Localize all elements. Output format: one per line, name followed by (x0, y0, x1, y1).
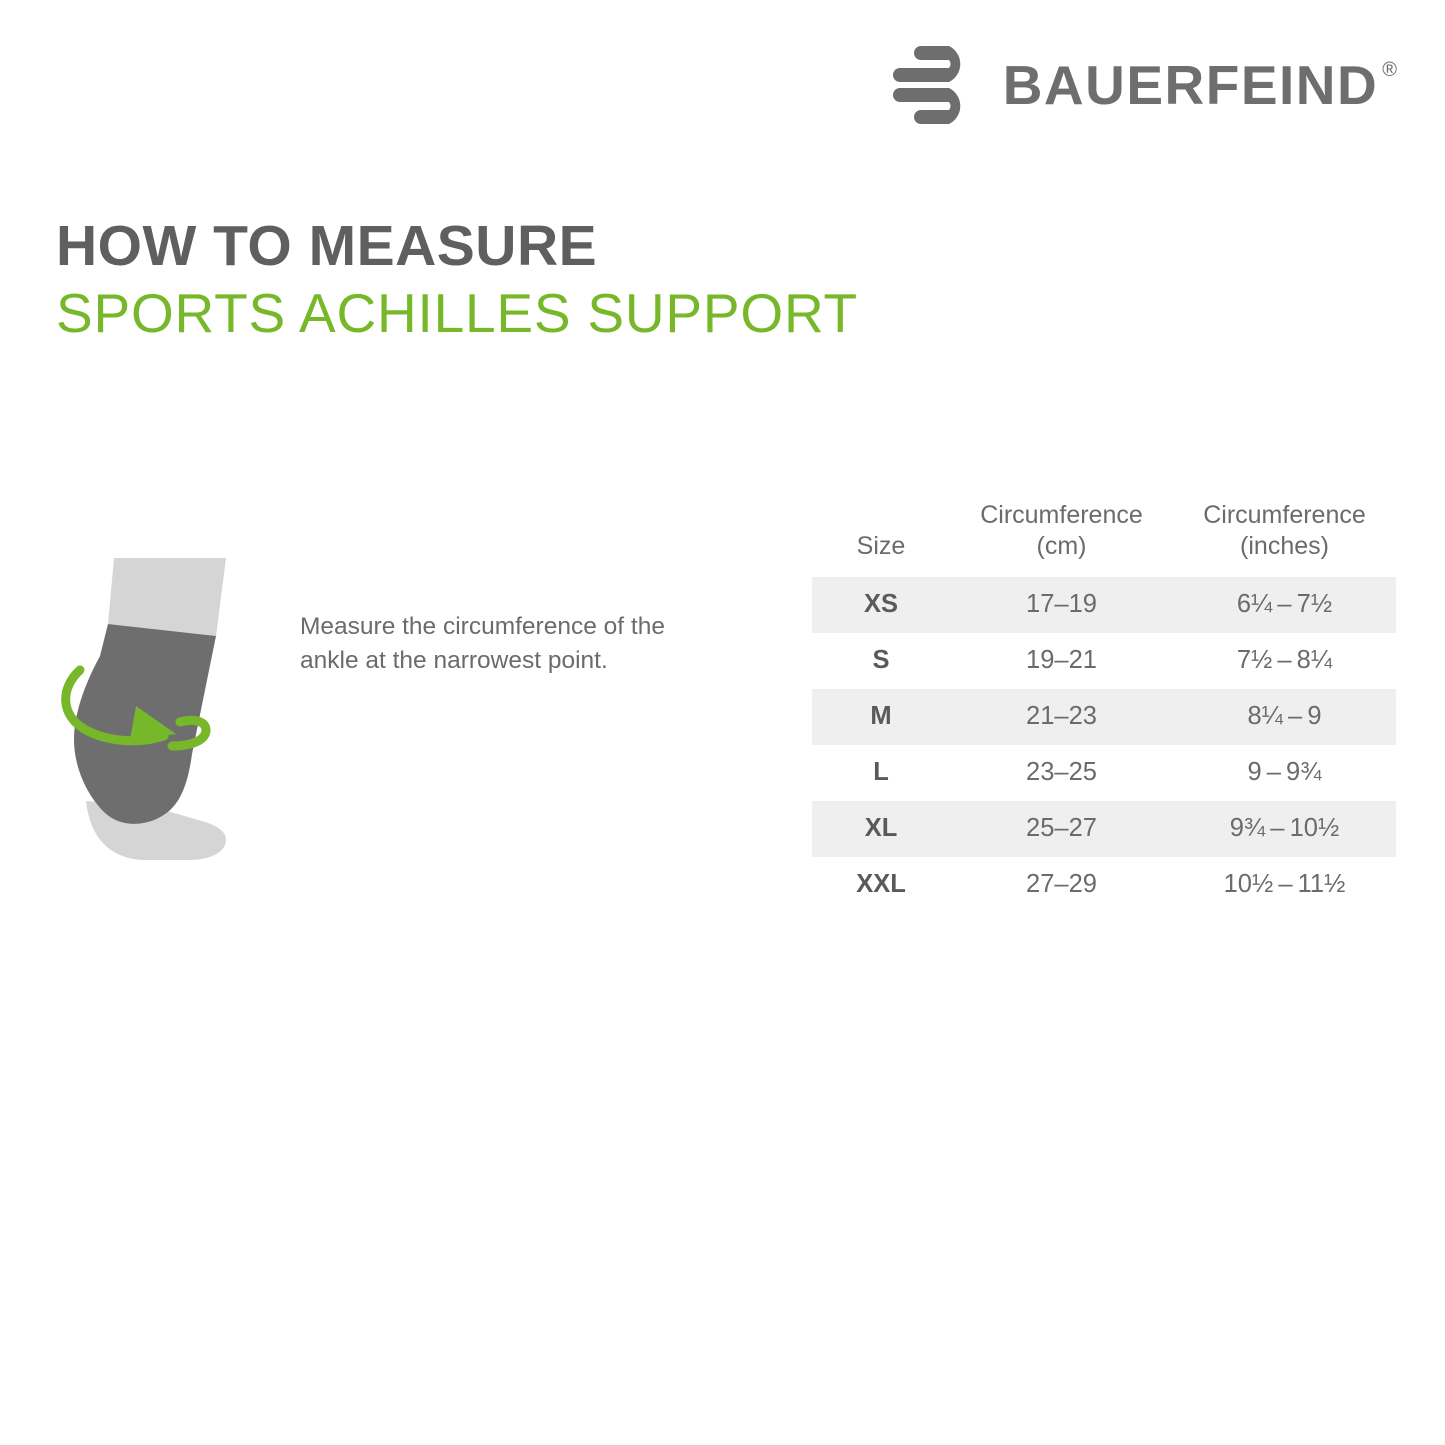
table-row: S19–217½ – 8¼ (812, 633, 1396, 689)
column-header-circumference-cm: Circumference (cm) (950, 500, 1173, 577)
page-title: HOW TO MEASURE (56, 216, 858, 278)
cell-size: XXL (812, 857, 950, 913)
brand-name: BAUERFEIND (1003, 58, 1379, 113)
table-row: XXL27–2910½ – 11½ (812, 857, 1396, 913)
brand-logo: BAUERFEIND ® (891, 42, 1397, 128)
registered-trademark-icon: ® (1382, 60, 1397, 80)
cell-size: M (812, 689, 950, 745)
size-chart-table: Size Circumference (cm) Circumference (i… (812, 500, 1396, 913)
cell-size: S (812, 633, 950, 689)
column-header-size: Size (812, 500, 950, 577)
cell-circumference-cm: 17–19 (950, 577, 1173, 633)
cell-size: XS (812, 577, 950, 633)
table-row: XS17–196¼ – 7½ (812, 577, 1396, 633)
measurement-instruction: Measure the circumference of the ankle a… (300, 610, 730, 680)
ankle-measurement-illustration (30, 558, 260, 888)
cell-circumference-inches: 6¼ – 7½ (1173, 577, 1396, 633)
cell-size: L (812, 745, 950, 801)
cell-circumference-inches: 8¼ – 9 (1173, 689, 1396, 745)
size-chart-header: Size Circumference (cm) Circumference (i… (812, 500, 1396, 577)
cell-circumference-cm: 23–25 (950, 745, 1173, 801)
column-header-inch-line1: Circumference (1203, 501, 1366, 529)
cell-circumference-cm: 19–21 (950, 633, 1173, 689)
column-header-cm-line2: (cm) (1037, 532, 1087, 560)
ankle-diagram-icon (30, 558, 260, 888)
bauerfeind-b-mark-icon (891, 42, 985, 128)
table-header-row: Size Circumference (cm) Circumference (i… (812, 500, 1396, 577)
cell-circumference-inches: 7½ – 8¼ (1173, 633, 1396, 689)
cell-circumference-cm: 21–23 (950, 689, 1173, 745)
cell-circumference-cm: 27–29 (950, 857, 1173, 913)
table-row: XL25–279¾ – 10½ (812, 801, 1396, 857)
cell-circumference-inches: 10½ – 11½ (1173, 857, 1396, 913)
column-header-cm-line1: Circumference (980, 501, 1143, 529)
brand-wordmark: BAUERFEIND ® (1003, 58, 1397, 113)
size-chart-body: XS17–196¼ – 7½S19–217½ – 8¼M21–238¼ – 9L… (812, 577, 1396, 913)
table-row: M21–238¼ – 9 (812, 689, 1396, 745)
column-header-inch-line2: (inches) (1240, 532, 1329, 560)
cell-circumference-inches: 9¾ – 10½ (1173, 801, 1396, 857)
page-subtitle: SPORTS ACHILLES SUPPORT (56, 282, 858, 345)
table-row: L23–259 – 9¾ (812, 745, 1396, 801)
cell-circumference-inches: 9 – 9¾ (1173, 745, 1396, 801)
page-heading-block: HOW TO MEASURE SPORTS ACHILLES SUPPORT (56, 216, 858, 345)
cell-size: XL (812, 801, 950, 857)
cell-circumference-cm: 25–27 (950, 801, 1173, 857)
column-header-circumference-inches: Circumference (inches) (1173, 500, 1396, 577)
